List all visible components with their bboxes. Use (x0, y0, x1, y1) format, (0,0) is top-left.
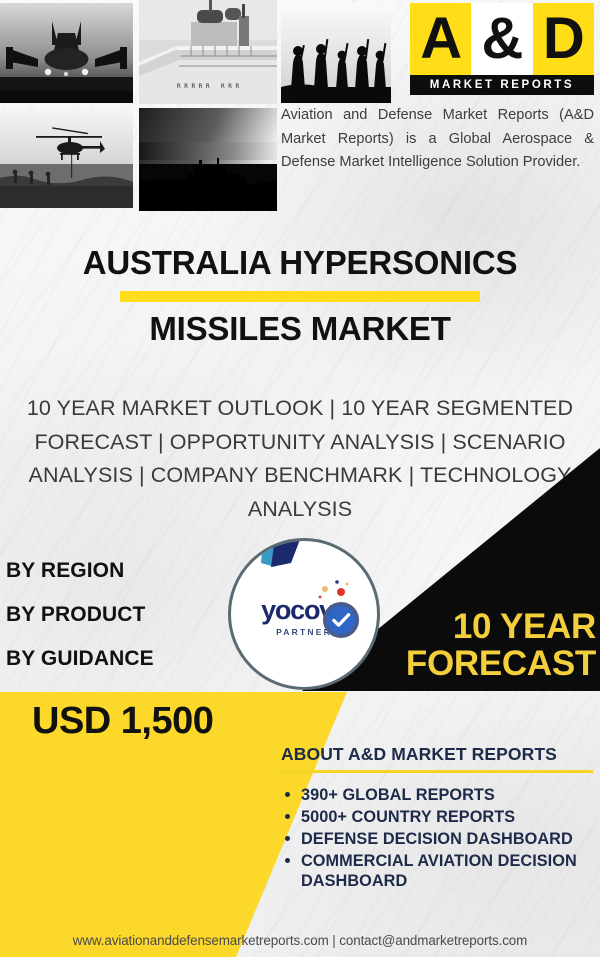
about-item-label: DEFENSE DECISION DASHBOARD (301, 830, 573, 848)
list-item: 5000+ COUNTRY REPORTS (281, 807, 593, 828)
about-section: ABOUT A&D MARKET REPORTS 390+ GLOBAL REP… (281, 744, 593, 893)
footer-contact: www.aviationanddefensemarketreports.com … (0, 933, 600, 948)
forecast-callout: 10 YEAR FORECAST (328, 608, 596, 682)
title-line-2: MISSILES MARKET (0, 311, 600, 347)
segmentation-list: BY REGION BY PRODUCT BY GUIDANCE (6, 560, 236, 692)
segment-item-region: BY REGION (6, 560, 236, 581)
naval-ship-photo: R R R R R R R R (139, 0, 277, 104)
logo-letter-ampersand: & (471, 3, 532, 75)
title-underline-bar (120, 291, 480, 302)
report-scope-subtitle: 10 YEAR MARKET OUTLOOK | 10 YEAR SEGMENT… (14, 392, 586, 526)
page-title: AUSTRALIA HYPERSONICS MISSILES MARKET (0, 245, 600, 346)
soldiers-silhouette-photo (281, 3, 391, 103)
yocova-flag-icon (261, 538, 319, 579)
price-value: USD 1,500 (32, 700, 213, 743)
title-line-1: AUSTRALIA HYPERSONICS (0, 245, 600, 281)
bullet-dot-icon (285, 858, 290, 863)
list-item: 390+ GLOBAL REPORTS (281, 785, 593, 806)
about-item-label: COMMERCIAL AVIATION DECISION DASHBOARD (301, 852, 577, 891)
and-logo: A & D MARKET REPORTS (410, 3, 594, 95)
segment-item-guidance: BY GUIDANCE (6, 648, 236, 669)
svg-text:R R R R R: R R R R R (177, 83, 210, 90)
header-photo-grid: R R R R R R R R (0, 0, 281, 215)
forecast-line-1: 10 YEAR (328, 608, 596, 645)
bullet-dot-icon (285, 814, 290, 819)
yocova-confetti-dots-icon (315, 579, 349, 601)
bullet-dot-icon (285, 792, 290, 797)
bullet-dot-icon (285, 836, 290, 841)
list-item: COMMERCIAL AVIATION DECISION DASHBOARD (281, 851, 593, 893)
company-intro-text: Aviation and Defense Market Reports (A&D… (281, 104, 594, 175)
logo-tagline: MARKET REPORTS (410, 75, 594, 95)
poster-canvas: R R R R R R R R (0, 0, 600, 957)
fighter-jet-photo (0, 3, 133, 103)
segment-item-product: BY PRODUCT (6, 604, 236, 625)
about-heading-underline (281, 770, 593, 773)
about-item-label: 390+ GLOBAL REPORTS (301, 786, 495, 804)
svg-text:R R R: R R R (221, 83, 239, 90)
about-bullet-list: 390+ GLOBAL REPORTS 5000+ COUNTRY REPORT… (281, 785, 593, 892)
about-item-label: 5000+ COUNTRY REPORTS (301, 808, 515, 826)
logo-letter-d: D (533, 3, 594, 75)
logo-letter-a: A (410, 3, 471, 75)
armored-vehicle-photo (139, 108, 277, 211)
logo-letters-row: A & D (410, 3, 594, 75)
forecast-line-2: FORECAST (328, 645, 596, 682)
about-heading: ABOUT A&D MARKET REPORTS (281, 744, 593, 770)
helicopter-photo (0, 108, 133, 208)
list-item: DEFENSE DECISION DASHBOARD (281, 829, 593, 850)
